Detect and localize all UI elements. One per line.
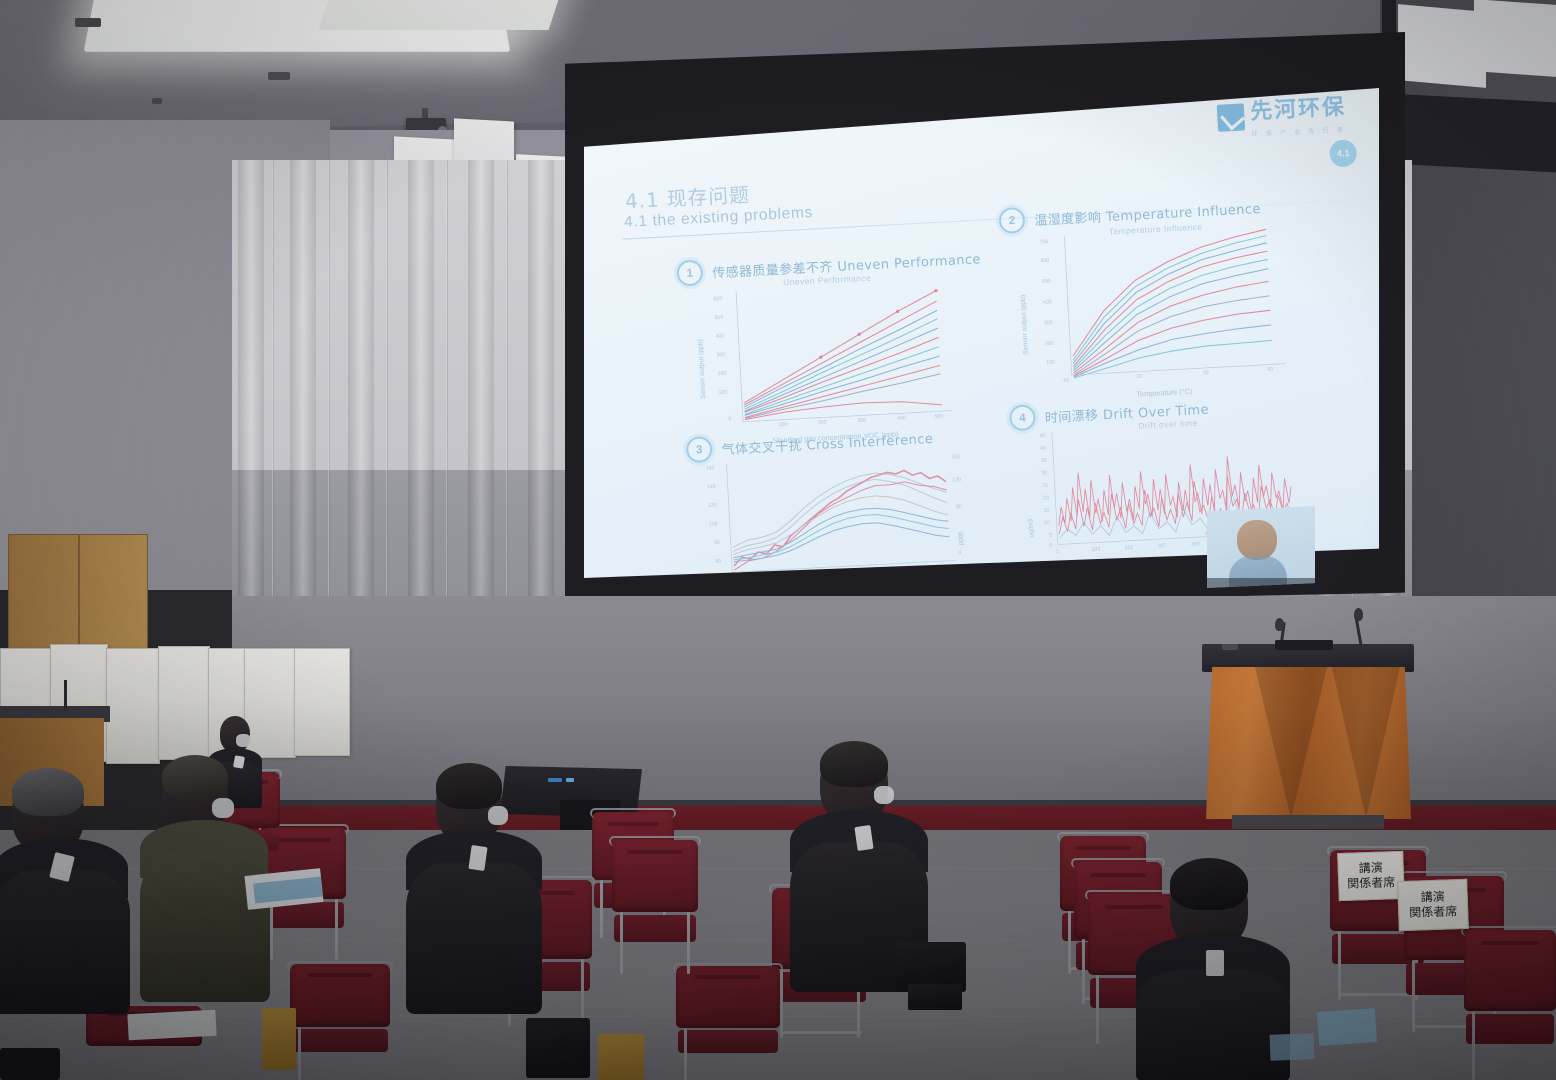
chart-temperature-influence: Temperature Influence Sensor output (ppb… [1020, 218, 1298, 390]
chair[interactable] [290, 964, 390, 1080]
chart-cross-interference: ppb [691, 445, 976, 578]
side-podium-microphone-icon [64, 680, 67, 710]
ceiling-vent [75, 18, 101, 27]
video-participant-face [1237, 520, 1277, 560]
chair[interactable] [676, 966, 780, 1080]
tote-bag [598, 1034, 644, 1080]
chart-3-canvas [691, 445, 976, 578]
backpack [526, 1018, 590, 1078]
podium-facet [1332, 667, 1400, 819]
chair[interactable] [612, 840, 698, 974]
av-status-led [548, 778, 562, 782]
seat-reserved-sign: 講演 関係者席 [1337, 851, 1405, 901]
right-wall-recess [1390, 94, 1556, 173]
partition-panel [294, 648, 350, 756]
podium-facet [1255, 667, 1327, 819]
right-wall-panel [1474, 0, 1556, 77]
av-status-led [566, 778, 574, 782]
bag [0, 1048, 60, 1080]
door-divider [78, 534, 80, 654]
video-conference-overlay [1207, 506, 1315, 588]
section-number-2: 2 [998, 207, 1025, 234]
brand-tagline: 环 保 产 业 先 行 者 [1251, 124, 1347, 138]
seat-sign-line1: 講演 [1420, 890, 1445, 906]
podium-microphone-head-icon [1354, 608, 1363, 621]
right-wall-panel [1398, 4, 1486, 88]
document-on-chair [127, 1010, 216, 1041]
ceiling-vent [152, 98, 162, 104]
partition-panel [106, 648, 160, 764]
projected-slide: 先河环保 环 保 产 业 先 行 者 4.1 4.1 现存问题 4.1 the … [584, 88, 1379, 578]
seat-sign-line2: 関係者席 [1347, 875, 1396, 892]
seat-sign-line1: 講演 [1358, 861, 1383, 877]
ceiling-skylight-secondary [319, 0, 572, 30]
briefcase-base [908, 984, 962, 1010]
partition-panel [158, 646, 210, 760]
podium-microphone-head-icon [1275, 618, 1284, 631]
attendee [1136, 862, 1288, 1080]
document-on-chair [1317, 1008, 1377, 1046]
chair[interactable] [1464, 930, 1556, 1080]
podium-base-plinth [1232, 815, 1384, 829]
chart-uneven-performance: Uneven Performance Sensor output (ppb) [696, 269, 966, 437]
seat-reserved-sign: 講演 関係者席 [1397, 879, 1469, 931]
podium-laptop [1275, 640, 1333, 650]
conference-room-photo: 先河环保 环 保 产 业 先 行 者 4.1 4.1 现存问题 4.1 the … [0, 0, 1556, 1080]
slide-page-badge: 4.1 [1329, 139, 1357, 167]
tote-bag [262, 1008, 296, 1070]
podium-small-item [1222, 644, 1238, 650]
seat-sign-line2: 関係者席 [1409, 904, 1458, 921]
chart-4-ylabel: ug/m3 [1027, 519, 1035, 538]
ceiling-vent [268, 72, 290, 80]
xianhe-logo-icon [1217, 103, 1245, 131]
attendee [0, 772, 130, 1012]
chart-1-canvas [696, 269, 966, 437]
document-on-chair [1270, 1033, 1315, 1061]
chart-2-canvas [1020, 218, 1298, 390]
attendee [408, 766, 540, 1018]
